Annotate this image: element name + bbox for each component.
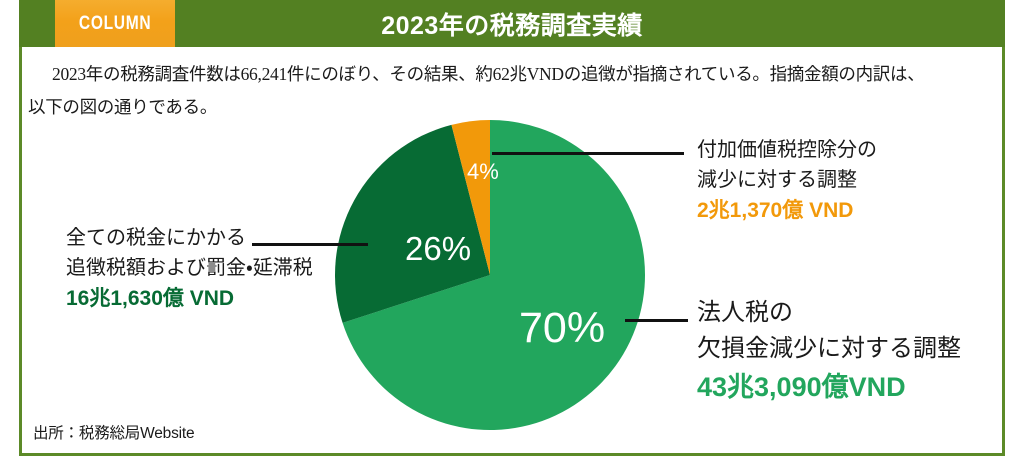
callout-vat-line-1: 付加価値税控除分の bbox=[697, 135, 877, 165]
callout-vat-line-2: 減少に対する調整 bbox=[697, 165, 877, 195]
leader-line-corporate bbox=[625, 319, 688, 322]
callout-corporate-line-2: 欠損金減少に対する調整 bbox=[697, 331, 961, 367]
callout-all-taxes-line-1: 全ての税金にかかる bbox=[66, 223, 313, 253]
pie-chart: 70% 26% 4% 付加価値税控除分の 減少に対する調整 2兆1,370億 V… bbox=[0, 110, 1024, 430]
callout-corporate-line-1: 法人税の bbox=[697, 295, 961, 331]
callout-all-taxes: 全ての税金にかかる 追徴税額および罰金・延滞税 16兆1,630億 VND bbox=[66, 223, 313, 315]
pie-label-4: 4% bbox=[467, 159, 499, 185]
callout-vat-deduction: 付加価値税控除分の 減少に対する調整 2兆1,370億 VND bbox=[697, 135, 877, 227]
pie-label-26: 26% bbox=[405, 230, 471, 268]
column-badge-label: COLUMN bbox=[79, 13, 151, 35]
column-panel: COLUMN 2023年の税務調査実績 2023年の税務調査件数は66,241件… bbox=[0, 0, 1024, 463]
callout-all-taxes-line-2: 追徴税額および罰金・延滞税 bbox=[66, 253, 313, 283]
callout-vat-amount: 2兆1,370億 VND bbox=[697, 195, 877, 227]
leader-line-vat bbox=[492, 152, 684, 155]
frame-border-bottom bbox=[19, 453, 1005, 456]
pie-label-70: 70% bbox=[519, 304, 605, 353]
callout-corporate-amount: 43兆3,090億VND bbox=[697, 367, 961, 407]
header-bar: COLUMN bbox=[19, 0, 1005, 47]
column-badge: COLUMN bbox=[55, 0, 175, 47]
callout-all-taxes-amount: 16兆1,630億 VND bbox=[66, 283, 313, 315]
callout-corporate-tax: 法人税の 欠損金減少に対する調整 43兆3,090億VND bbox=[697, 295, 961, 407]
intro-paragraph-line-1: 2023年の税務調査件数は66,241件にのぼり、その結果、約62兆VNDの追徴… bbox=[52, 64, 924, 84]
source-note: 出所：税務総局Website bbox=[33, 421, 194, 443]
